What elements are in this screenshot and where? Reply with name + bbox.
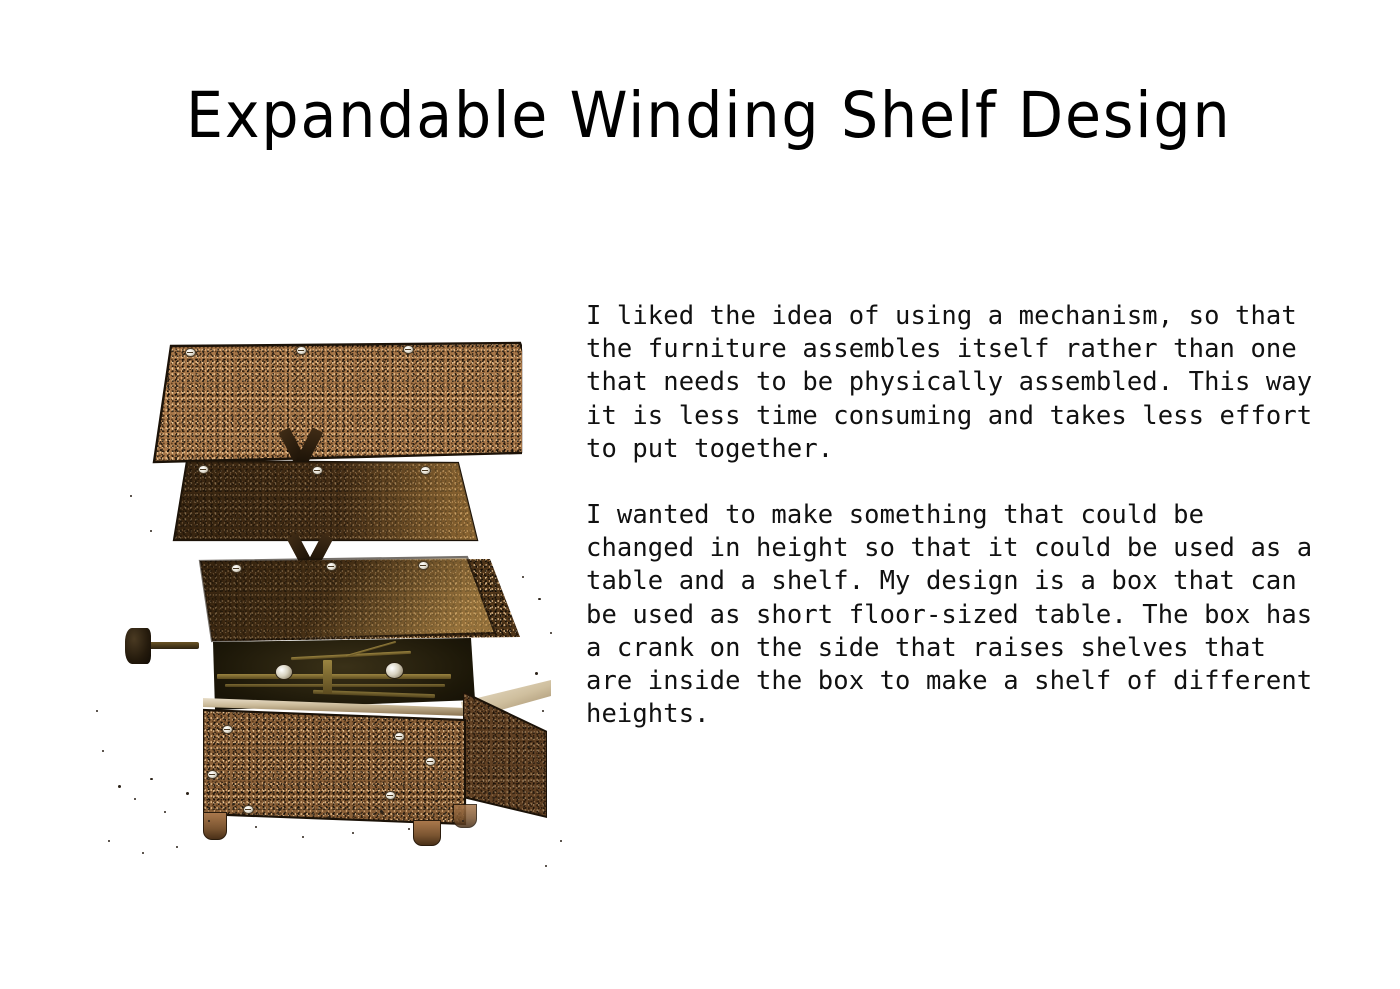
screw	[385, 791, 396, 800]
screw	[425, 757, 436, 766]
crank-shaft[interactable]	[145, 642, 199, 649]
paragraph-1: I liked the idea of using a mechanism, s…	[586, 300, 1316, 466]
screw	[198, 465, 209, 474]
screw	[326, 562, 337, 571]
box-foot	[203, 812, 227, 840]
screw	[222, 725, 233, 734]
page-title: Expandable Winding Shelf Design	[186, 84, 1209, 147]
base-box	[195, 580, 545, 830]
winding-rod	[225, 684, 445, 687]
gear	[275, 664, 293, 680]
top-shelf-panel	[122, 310, 522, 468]
box-foot	[453, 804, 477, 828]
gear	[385, 662, 404, 679]
screw	[394, 732, 405, 741]
screw	[420, 466, 431, 475]
box-foot	[413, 820, 441, 846]
screw	[418, 561, 429, 570]
shelf-illustration	[90, 280, 570, 850]
poster-page: Expandable Winding Shelf Design	[0, 0, 1400, 989]
screw	[231, 564, 242, 573]
winding-rod	[217, 674, 451, 679]
body-copy: I liked the idea of using a mechanism, s…	[586, 300, 1316, 731]
middle-shelf-outline	[165, 455, 575, 565]
screw	[185, 348, 196, 357]
paragraph-2: I wanted to make something that could be…	[586, 499, 1316, 731]
screw	[296, 346, 307, 355]
screw	[243, 805, 254, 814]
box-side-outline	[463, 692, 547, 820]
screw	[207, 770, 218, 779]
center-post	[323, 660, 332, 694]
side-crank-handle[interactable]	[125, 628, 151, 664]
screw	[403, 345, 414, 354]
screw	[312, 466, 323, 475]
